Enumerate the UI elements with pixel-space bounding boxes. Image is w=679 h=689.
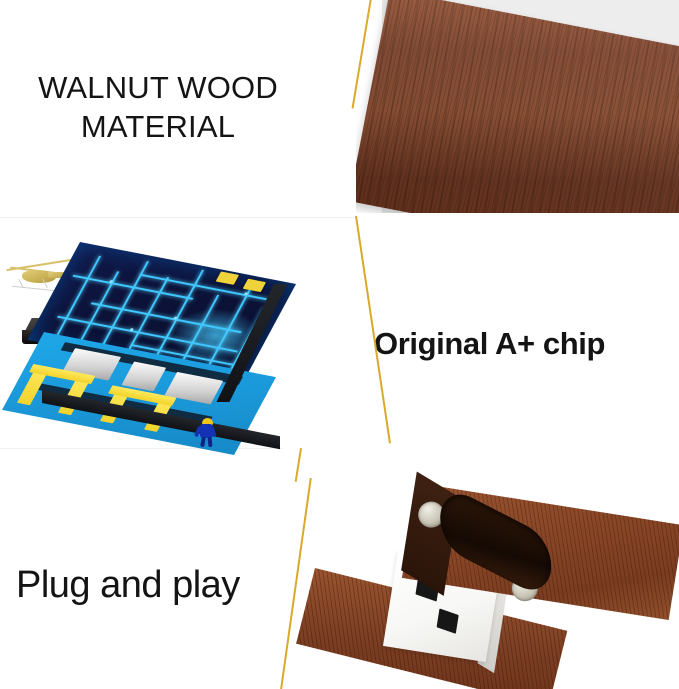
pcb-gold-pad [243, 279, 266, 292]
pcb-gold-pad [216, 271, 239, 284]
headline-line-1: WALNUT WOOD [8, 68, 308, 107]
product-infographic: WALNUT WOOD MATERIAL [0, 0, 679, 689]
worker-leg [207, 437, 212, 447]
headline-line-2: MATERIAL [8, 107, 308, 146]
pcb-trace [154, 270, 203, 359]
pcb-trace [54, 256, 100, 340]
worker-figure-illustration [196, 418, 218, 448]
pcb-chip-package [121, 362, 166, 392]
plug-and-play-headline: Plug and play [16, 562, 316, 608]
usb-contact-hole [437, 608, 459, 633]
circuit-board-illustration [22, 240, 322, 440]
walnut-wood-material-headline: WALNUT WOOD MATERIAL [8, 68, 308, 146]
worker-leg [200, 437, 206, 448]
pcb-trace [73, 275, 194, 300]
original-a-plus-chip-headline: Original A+ chip [374, 325, 674, 363]
